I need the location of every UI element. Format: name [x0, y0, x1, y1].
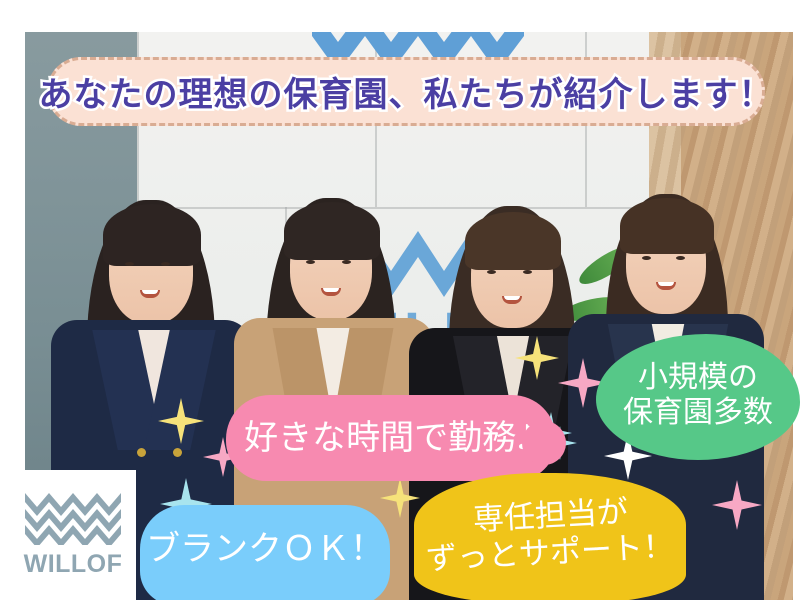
headline-text: あなたの理想の保育園、私たちが紹介します！: [39, 67, 774, 116]
brand-wordmark: WILLOF: [24, 550, 123, 579]
bubble-small-nursery: 小規模の 保育園多数: [596, 334, 800, 460]
bubble-line: 好きな時間で勤務♪: [244, 418, 538, 458]
bubble-flexible-hours: 好きな時間で勤務♪: [226, 395, 556, 481]
bubble-line: ずっとサポート！: [425, 529, 675, 579]
bubble-line: ブランクＯＫ！: [146, 529, 384, 569]
bubble-line: 小規模の: [638, 360, 758, 395]
bubble-line: 保育園多数: [623, 395, 773, 430]
bubble-dedicated-support: 専任担当が ずっとサポート！: [414, 473, 686, 600]
headline-banner: あなたの理想の保育園、私たちが紹介します！: [47, 57, 765, 126]
bubble-blank-ok: ブランクＯＫ！: [140, 505, 390, 600]
willof-zigzag-icon: [25, 491, 121, 545]
ad-creative: WILLOF: [0, 0, 800, 600]
brand-logo-card: WILLOF: [10, 470, 136, 600]
